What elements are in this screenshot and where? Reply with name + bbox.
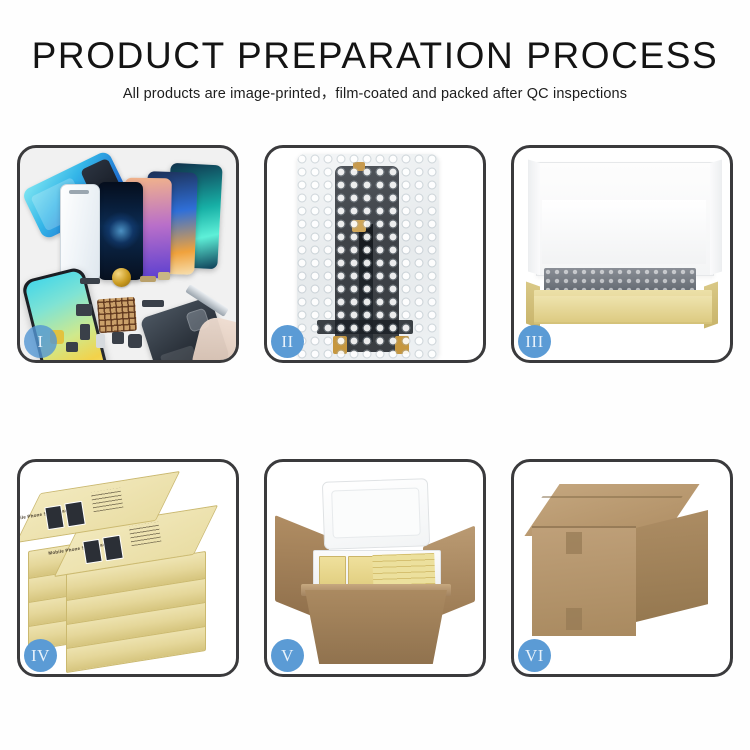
carton-side-face — [636, 510, 708, 622]
carton-tape-icon — [566, 608, 582, 630]
kraft-box-front — [534, 296, 712, 322]
chip-grid-icon — [97, 297, 137, 334]
process-step-panel-4: Mobile Phone Spare Parts Mobile Phone Sp… — [17, 459, 239, 677]
bubble-texture — [297, 154, 439, 360]
process-step-panel-1: I — [17, 145, 239, 363]
step-badge-1: I — [24, 325, 57, 358]
spare-part-icon — [112, 332, 124, 344]
carton-front-face — [532, 526, 636, 636]
step-numeral: VI — [525, 646, 544, 666]
bubble-wrap-bag-icon — [297, 154, 439, 360]
step-numeral: III — [525, 332, 543, 352]
spare-part-icon — [128, 334, 142, 348]
process-step-panel-6: VI — [511, 459, 733, 677]
box-window-icon — [82, 539, 102, 564]
step-6-photo: VI — [514, 462, 730, 674]
process-step-panel-3: III — [511, 145, 733, 363]
copper-coil-icon — [112, 268, 131, 287]
step-numeral: II — [281, 332, 293, 352]
spare-part-icon — [142, 300, 164, 307]
spare-part-icon — [80, 324, 90, 340]
carton-seam — [532, 526, 636, 528]
process-step-panel-5: V — [264, 459, 486, 677]
process-step-panel-2: II — [264, 145, 486, 363]
spare-part-icon — [80, 278, 100, 284]
header: PRODUCT PREPARATION PROCESS All products… — [0, 34, 750, 104]
spare-part-icon — [66, 342, 78, 352]
tempered-glass-icon — [60, 184, 100, 282]
phone-screen-fan — [76, 158, 236, 278]
spare-part-icon — [158, 272, 170, 280]
carton-tape-icon — [566, 532, 582, 554]
box-window-icon — [64, 501, 86, 528]
box-interior — [542, 200, 706, 264]
box-window-icon — [44, 505, 64, 530]
foam-lid-icon — [322, 478, 430, 550]
spare-part-icon — [140, 276, 156, 282]
step-badge-3: III — [518, 325, 551, 358]
carton-body — [305, 590, 447, 664]
page-subtitle: All products are image-printed，film-coat… — [0, 85, 750, 104]
step-badge-6: VI — [518, 639, 551, 672]
product-preparation-infographic: PRODUCT PREPARATION PROCESS All products… — [0, 0, 750, 750]
carton-fold-line — [541, 496, 682, 498]
step-badge-4: IV — [24, 639, 57, 672]
page-title: PRODUCT PREPARATION PROCESS — [0, 34, 750, 78]
step-badge-2: II — [271, 325, 304, 358]
step-badge-5: V — [271, 639, 304, 672]
process-step-grid: I II — [17, 145, 733, 677]
phone-dark-icon — [98, 182, 143, 280]
step-numeral: I — [37, 332, 43, 352]
step-numeral: V — [281, 646, 294, 666]
step-2-photo: II — [267, 148, 483, 360]
step-3-photo: III — [514, 148, 730, 360]
step-numeral: IV — [31, 646, 50, 666]
step-4-photo: Mobile Phone Spare Parts Mobile Phone Sp… — [20, 462, 236, 674]
step-5-photo: V — [267, 462, 483, 674]
box-window-icon — [102, 535, 124, 562]
spare-part-icon — [96, 334, 105, 348]
step-1-photo: I — [20, 148, 236, 360]
spare-part-icon — [76, 304, 92, 316]
